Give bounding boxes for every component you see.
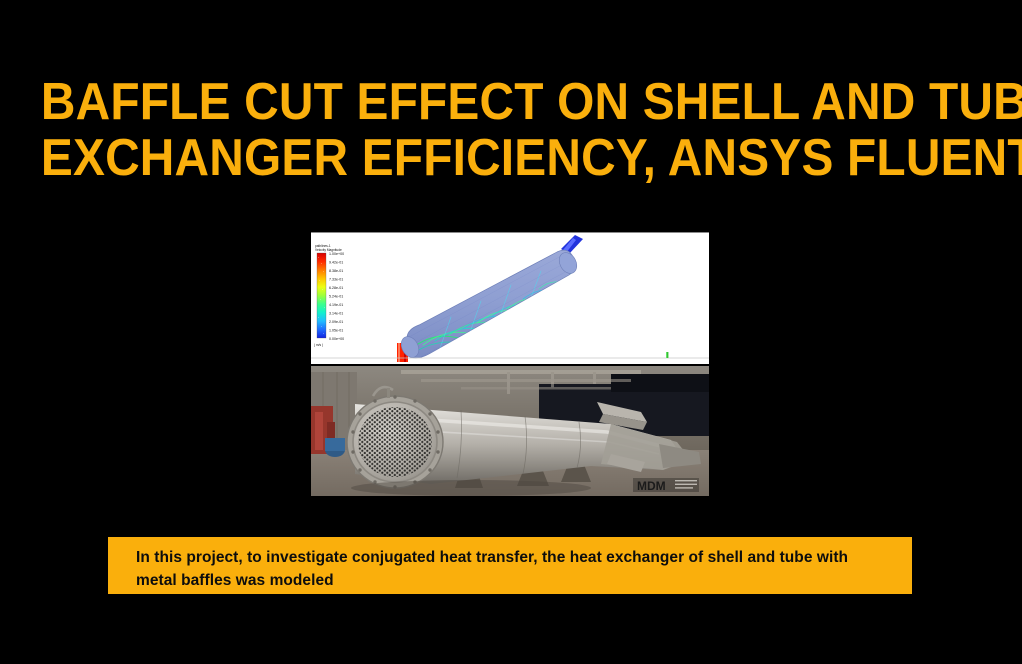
- title-line-1: BAFFLE CUT EFFECT ON SHELL AND TUBE HEAT: [41, 74, 981, 130]
- legend-unit-label: ( m/s ): [314, 343, 323, 347]
- legend-label-1: 9.42e-01: [329, 261, 343, 265]
- axis-triad-icon: [666, 352, 668, 358]
- slide-title: BAFFLE CUT EFFECT ON SHELL AND TUBE HEAT…: [0, 74, 1022, 186]
- legend-label-0: 1.00e+00: [329, 252, 344, 256]
- svg-text:MDM: MDM: [637, 479, 666, 493]
- cfd-simulation-image: pathlines-1 Velocity Magnitude: [311, 232, 709, 364]
- legend-label-8: 2.09e-01: [329, 320, 343, 324]
- legend-label-7: 3.14e-01: [329, 312, 343, 316]
- media-stack: pathlines-1 Velocity Magnitude: [311, 232, 709, 496]
- heat-exchanger-photo-svg: MDM: [311, 366, 709, 496]
- legend-label-2: 8.38e-01: [329, 269, 343, 273]
- legend-label-3: 7.33e-01: [329, 278, 343, 282]
- legend-label-6: 4.19e-01: [329, 303, 343, 307]
- heat-exchanger-photo: MDM: [311, 366, 709, 496]
- title-line-2: EXCHANGER EFFICIENCY, ANSYS FLUENT: [41, 130, 981, 186]
- caption-bar: In this project, to investigate conjugat…: [108, 537, 912, 594]
- cfd-render-svg: pathlines-1 Velocity Magnitude: [311, 233, 709, 364]
- caption-text: In this project, to investigate conjugat…: [136, 546, 890, 592]
- legend-label-4: 6.28e-01: [329, 286, 343, 290]
- presentation-slide: BAFFLE CUT EFFECT ON SHELL AND TUBE HEAT…: [0, 0, 1022, 664]
- legend-label-10: 0.00e+00: [329, 337, 344, 341]
- legend-label-5: 5.24e-01: [329, 295, 343, 299]
- photo-watermark: MDM: [633, 478, 699, 493]
- legend-label-9: 1.05e-01: [329, 329, 343, 333]
- legend-colorbar: [317, 253, 326, 338]
- tubesheet-face: [347, 395, 443, 488]
